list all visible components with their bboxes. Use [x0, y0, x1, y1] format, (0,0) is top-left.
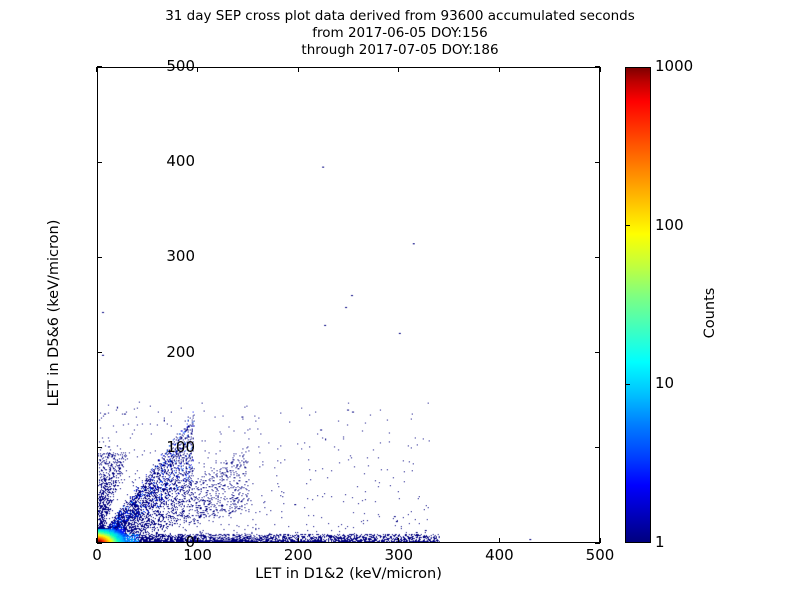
x-tick: [96, 67, 97, 72]
colorbar[interactable]: [625, 67, 651, 543]
y-tick: [97, 162, 102, 163]
plot-title: 31 day SEP cross plot data derived from …: [0, 8, 800, 59]
y-tick-label-300: 300: [135, 247, 195, 265]
y-tick: [97, 352, 102, 353]
y-axis-title: LET in D5&6 (keV/micron): [46, 163, 62, 463]
x-tick: [398, 67, 399, 72]
colorbar-tick: [625, 225, 630, 226]
x-tick: [197, 67, 198, 72]
plot-title-line-2: from 2017-06-05 DOY:156: [0, 25, 800, 42]
colorbar-title: Counts: [702, 223, 718, 403]
colorbar-tick-label-100: 100: [655, 216, 684, 234]
y-tick-label-100: 100: [135, 438, 195, 456]
y-tick-right: [595, 447, 600, 448]
x-tick: [499, 67, 500, 72]
y-tick-right: [595, 542, 600, 543]
x-tick: [197, 538, 198, 543]
plot-title-line-1: 31 day SEP cross plot data derived from …: [0, 8, 800, 25]
y-tick-label-400: 400: [135, 152, 195, 170]
colorbar-tick-label-10: 10: [655, 374, 674, 392]
x-tick-label-400: 400: [469, 546, 529, 564]
plot-area[interactable]: [97, 67, 600, 543]
colorbar-tick-label-1: 1: [655, 533, 665, 551]
x-tick: [398, 538, 399, 543]
y-tick-label-200: 200: [135, 343, 195, 361]
x-tick: [599, 67, 600, 72]
y-tick-right: [595, 352, 600, 353]
y-tick-label-500: 500: [135, 57, 195, 75]
x-tick: [499, 538, 500, 543]
x-tick-label-0: 0: [67, 546, 127, 564]
y-tick: [97, 447, 102, 448]
scatter-data-layer: [98, 68, 599, 542]
y-tick-right: [595, 257, 600, 258]
colorbar-tick: [625, 384, 630, 385]
y-tick-label-0: 0: [135, 533, 195, 551]
y-tick-right: [595, 66, 600, 67]
x-tick-label-500: 500: [570, 546, 630, 564]
y-tick: [97, 66, 102, 67]
x-tick-label-200: 200: [268, 546, 328, 564]
y-tick-right: [595, 162, 600, 163]
colorbar-tick-label-1000: 1000: [655, 57, 693, 75]
x-tick: [298, 67, 299, 72]
y-tick: [97, 542, 102, 543]
x-tick-label-300: 300: [369, 546, 429, 564]
y-tick: [97, 257, 102, 258]
x-axis-title: LET in D1&2 (keV/micron): [97, 566, 600, 582]
x-tick: [298, 538, 299, 543]
